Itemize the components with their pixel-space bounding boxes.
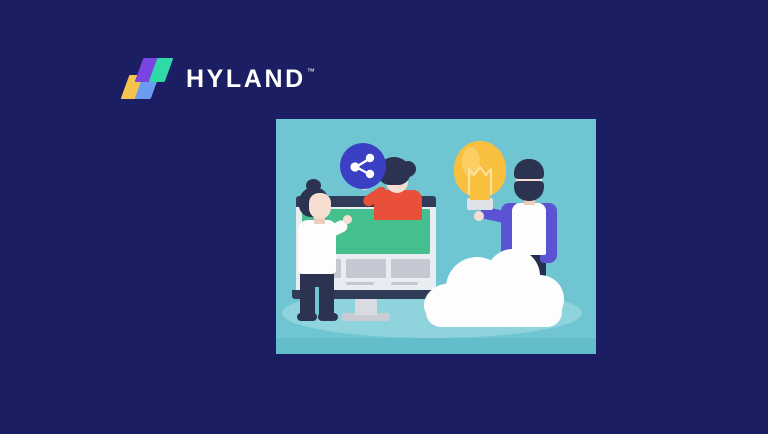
monitor-card-box xyxy=(346,259,385,278)
share-icon xyxy=(340,143,386,189)
logo-wordmark-text: HYLAND ™ xyxy=(186,67,315,92)
ground-band xyxy=(276,338,596,354)
illustration-panel xyxy=(276,119,596,354)
hyland-logo-lockup[interactable]: HYLAND ™ xyxy=(125,57,315,101)
monitor-card-line xyxy=(391,282,419,285)
monitor-card xyxy=(346,259,385,291)
person-right-beard xyxy=(514,181,544,201)
person-left-hair-bun xyxy=(306,179,321,192)
cloud-base xyxy=(426,297,562,327)
person-left-hand xyxy=(343,215,352,224)
person-left-shoe xyxy=(297,313,317,321)
trademark-icon: ™ xyxy=(307,68,315,76)
person-right-shirt xyxy=(512,203,546,255)
person-left-face xyxy=(309,193,331,219)
person-left-shoe xyxy=(318,313,338,321)
monitor-stand-neck xyxy=(355,297,377,315)
logo-wordmark-label: HYLAND xyxy=(186,65,306,93)
person-woman-left xyxy=(290,179,352,324)
lightbulb-filament xyxy=(466,161,494,195)
person-right-hair xyxy=(514,159,544,179)
illustration-stage xyxy=(276,119,596,354)
hyland-logo-mark xyxy=(125,57,175,101)
lightbulb-icon xyxy=(454,141,506,215)
cloud-shape xyxy=(424,249,564,327)
